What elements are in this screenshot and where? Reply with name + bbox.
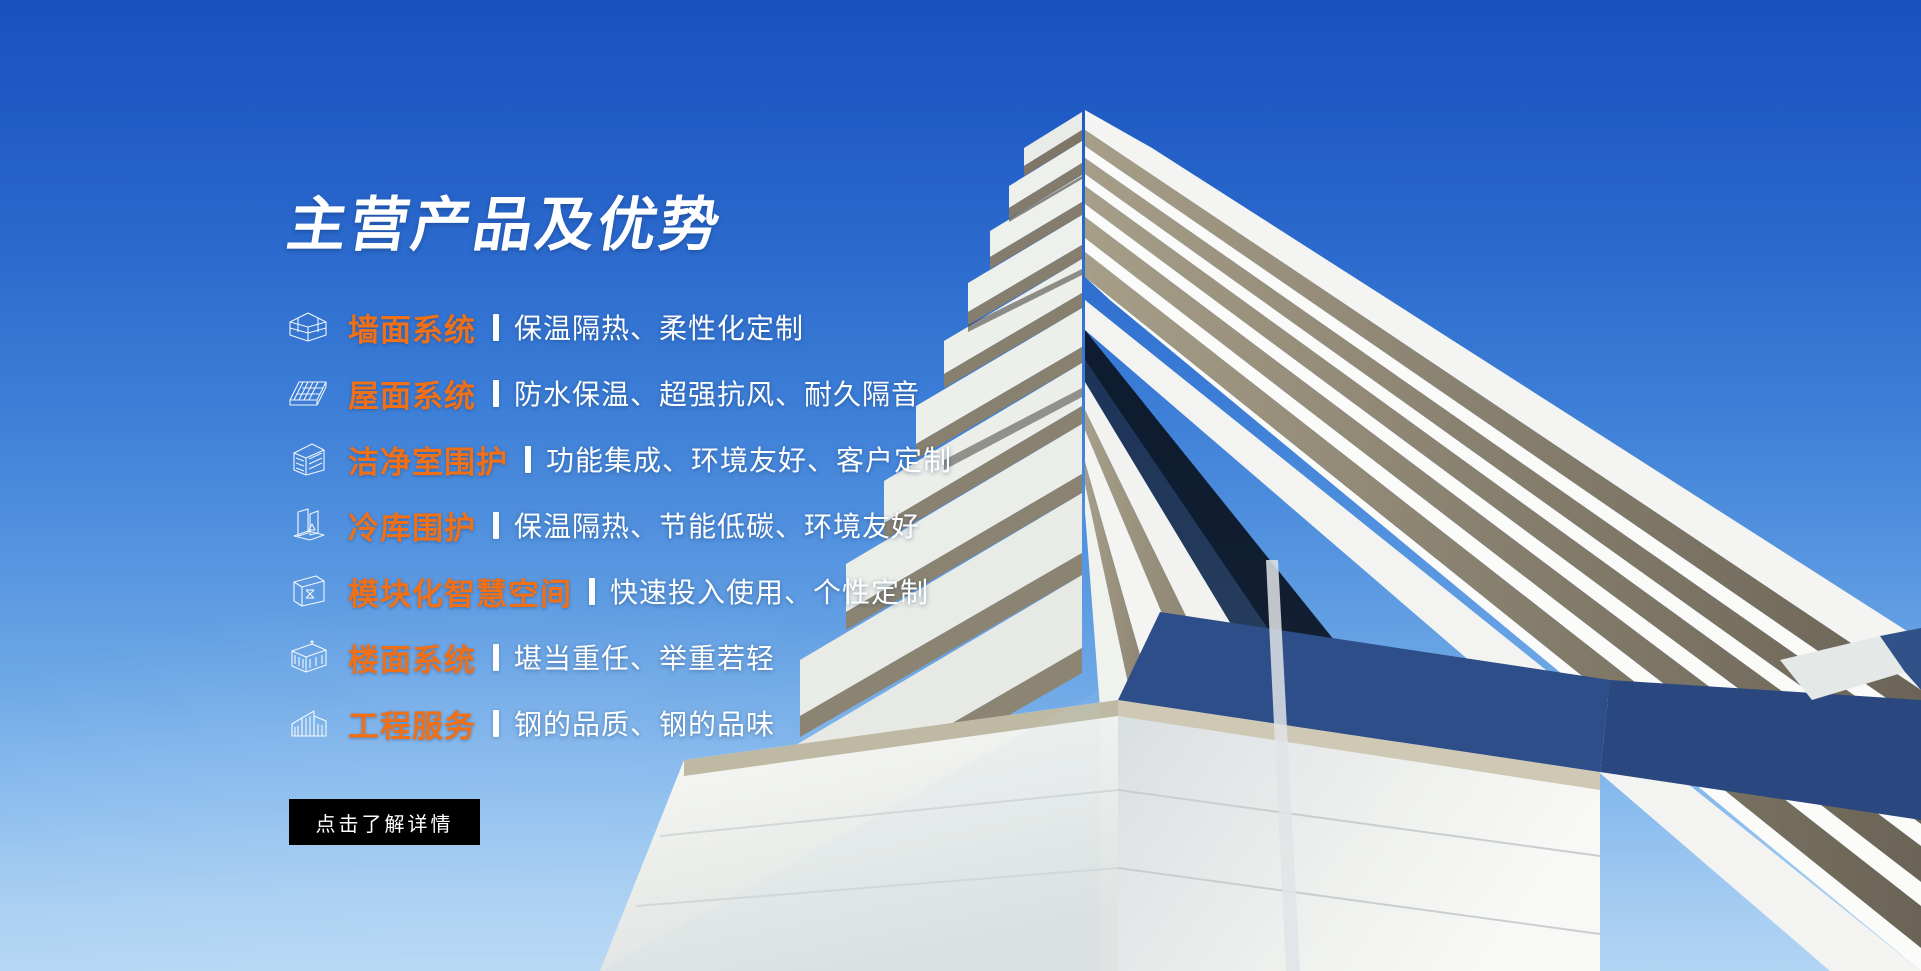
list-item-title: 工程服务 bbox=[348, 701, 476, 746]
list-item[interactable]: 模块化智慧空间 快速投入使用、个性定制 bbox=[286, 558, 1106, 624]
list-item-title: 楼面系统 bbox=[348, 635, 476, 680]
list-item-separator bbox=[493, 314, 499, 341]
cleanroom-enclosure-icon bbox=[286, 437, 342, 481]
list-item-desc: 功能集成、环境友好、客户定制 bbox=[546, 439, 952, 479]
product-feature-list: 墙面系统 保温隔热、柔性化定制 屋面系统 防水保温、超强抗风、 bbox=[286, 294, 1106, 756]
hero-banner: 主营产品及优势 墙面系统 保温隔热、柔性化定制 bbox=[0, 0, 1921, 971]
list-item-separator bbox=[493, 512, 499, 539]
list-item-desc: 钢的品质、钢的品味 bbox=[514, 703, 775, 743]
list-item-title: 洁净室围护 bbox=[348, 437, 508, 482]
list-item[interactable]: 楼面系统 堪当重任、举重若轻 bbox=[286, 624, 1106, 690]
wall-system-icon bbox=[286, 305, 342, 349]
list-item-desc: 堪当重任、举重若轻 bbox=[514, 637, 775, 677]
list-item-title: 墙面系统 bbox=[348, 305, 476, 350]
floor-system-icon bbox=[286, 635, 342, 679]
roof-system-icon bbox=[286, 371, 342, 415]
list-item-desc: 保温隔热、柔性化定制 bbox=[514, 307, 804, 347]
list-item[interactable]: 屋面系统 防水保温、超强抗风、耐久隔音 bbox=[286, 360, 1106, 426]
list-item-separator bbox=[589, 578, 595, 605]
list-item-separator bbox=[525, 446, 531, 473]
list-item-title: 屋面系统 bbox=[348, 371, 476, 416]
list-item[interactable]: 墙面系统 保温隔热、柔性化定制 bbox=[286, 294, 1106, 360]
list-item-desc: 防水保温、超强抗风、耐久隔音 bbox=[514, 373, 920, 413]
page-title: 主营产品及优势 bbox=[283, 196, 726, 255]
learn-more-button[interactable]: 点击了解详情 bbox=[289, 799, 480, 845]
list-item-desc: 快速投入使用、个性定制 bbox=[610, 571, 929, 611]
engineering-service-icon bbox=[286, 701, 342, 745]
list-item[interactable]: 冷库围护 保温隔热、节能低碳、环境友好 bbox=[286, 492, 1106, 558]
list-item-title: 冷库围护 bbox=[348, 503, 476, 548]
banner-content: 主营产品及优势 墙面系统 保温隔热、柔性化定制 bbox=[0, 0, 1100, 971]
modular-smart-space-icon bbox=[286, 569, 342, 613]
list-item[interactable]: 工程服务 钢的品质、钢的品味 bbox=[286, 690, 1106, 756]
list-item-separator bbox=[493, 380, 499, 407]
cold-storage-enclosure-icon bbox=[286, 503, 342, 547]
list-item-desc: 保温隔热、节能低碳、环境友好 bbox=[514, 505, 920, 545]
list-item-title: 模块化智慧空间 bbox=[348, 569, 572, 614]
list-item-separator bbox=[493, 644, 499, 671]
list-item-separator bbox=[493, 710, 499, 737]
list-item[interactable]: 洁净室围护 功能集成、环境友好、客户定制 bbox=[286, 426, 1106, 492]
